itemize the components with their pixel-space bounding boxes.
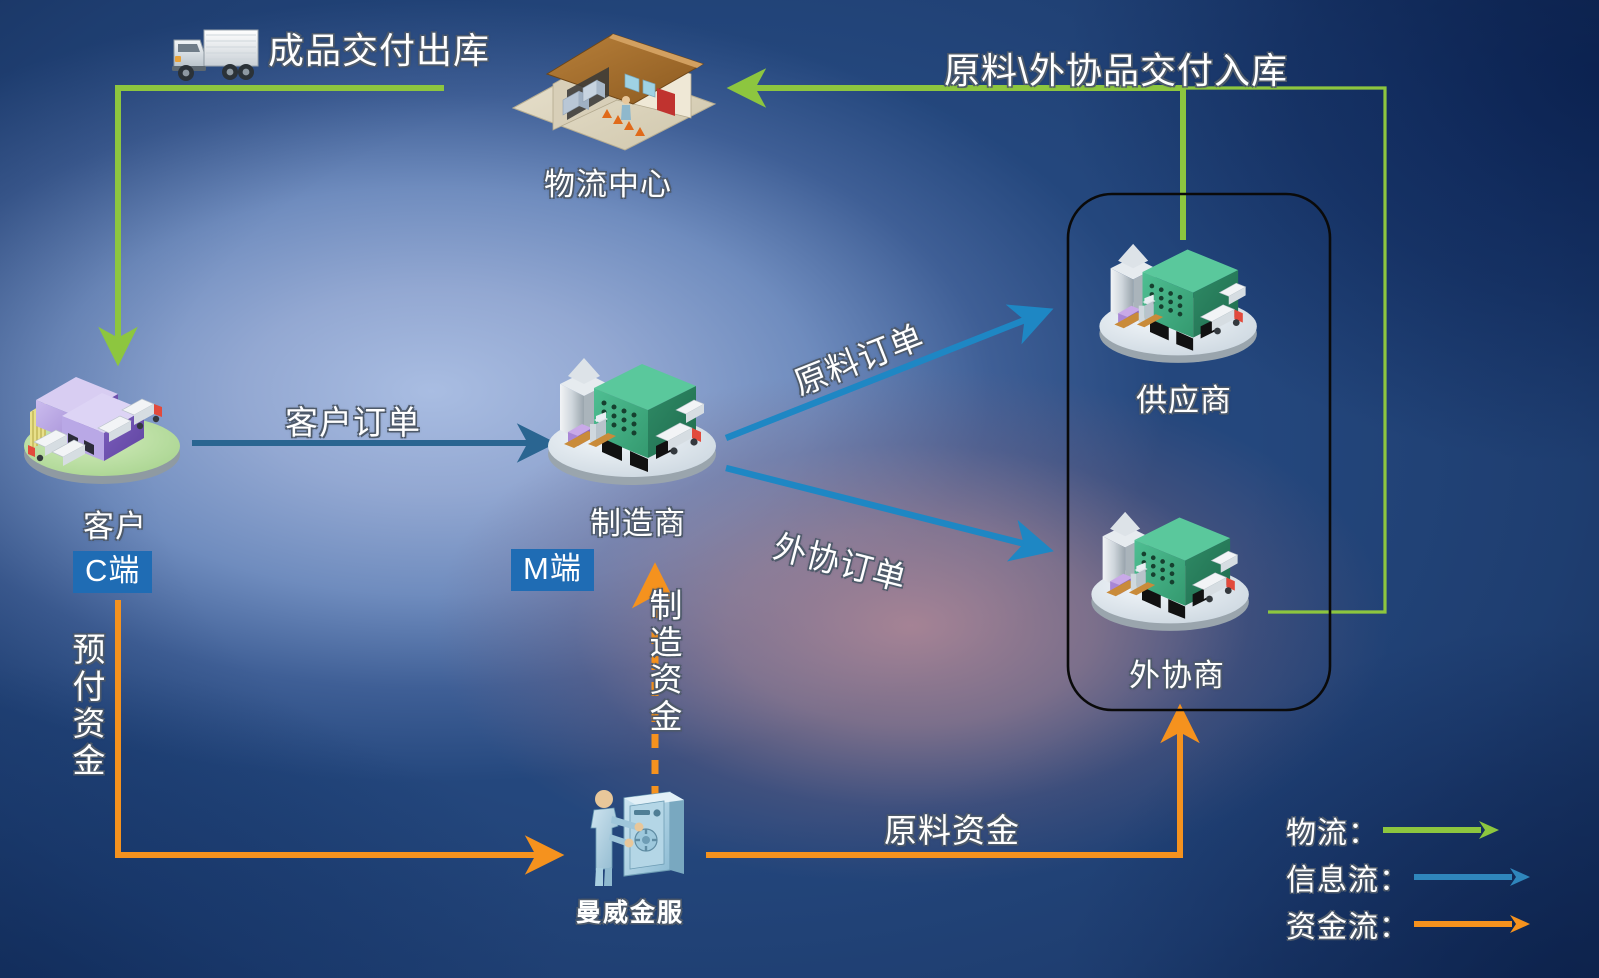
flow-label-customer-order: 客户订单 — [285, 396, 421, 444]
badge-customer-c-end: C端 — [73, 551, 152, 593]
legend-label-capital: 资金流： — [1286, 902, 1410, 946]
flow-label-material-funds: 原料资金 — [884, 804, 1020, 852]
customer-warehouse-icon — [14, 350, 194, 490]
legend-label-logistics: 物流： — [1286, 808, 1379, 852]
factory-icon-supplier — [1090, 232, 1270, 370]
wire-subcontract-order — [726, 468, 1045, 549]
flow-label-finished-goods-delivery: 成品交付出库 — [268, 22, 490, 74]
legend-item-capital-flow: 资金流： — [1286, 900, 1586, 947]
node-label-finance: 曼威金服 — [576, 893, 684, 929]
factory-icon-subcontractor — [1082, 500, 1262, 638]
legend-arrow-logistics — [1383, 819, 1501, 841]
legend-arrow-information — [1414, 866, 1532, 888]
node-label-manufacturer: 制造商 — [590, 498, 686, 543]
flow-label-manufacturing-funds: 制造资金 — [639, 588, 687, 736]
node-label-subcontractor: 外协商 — [1129, 650, 1225, 695]
flow-label-prepaid-funds: 预付资金 — [62, 632, 110, 780]
legend-arrow-capital — [1414, 913, 1532, 935]
node-label-customer: 客户 — [83, 501, 147, 546]
wire-finished-goods-delivery — [118, 88, 444, 358]
diagram-canvas: 成品交付出库 原料\外协品交付入库 物流中心 客户 C端 制造商 M端 供应商 … — [0, 0, 1599, 978]
legend-item-information-flow: 信息流： — [1286, 853, 1586, 900]
person-vault-icon — [572, 782, 692, 890]
legend-item-logistics-flow: 物流： — [1286, 806, 1586, 853]
legend-label-information: 信息流： — [1286, 855, 1410, 899]
node-label-logistics-center: 物流中心 — [544, 159, 672, 204]
factory-icon-manufacturer — [538, 346, 730, 492]
node-label-supplier: 供应商 — [1136, 375, 1232, 420]
legend: 物流： 信息流： 资金流： — [1286, 806, 1586, 947]
badge-manufacturer-m-end: M端 — [511, 549, 594, 591]
wire-prepaid-funds — [118, 600, 556, 855]
truck-icon — [168, 22, 264, 84]
flow-label-material-inbound: 原料\外协品交付入库 — [944, 42, 1288, 94]
warehouse-icon — [505, 12, 720, 152]
